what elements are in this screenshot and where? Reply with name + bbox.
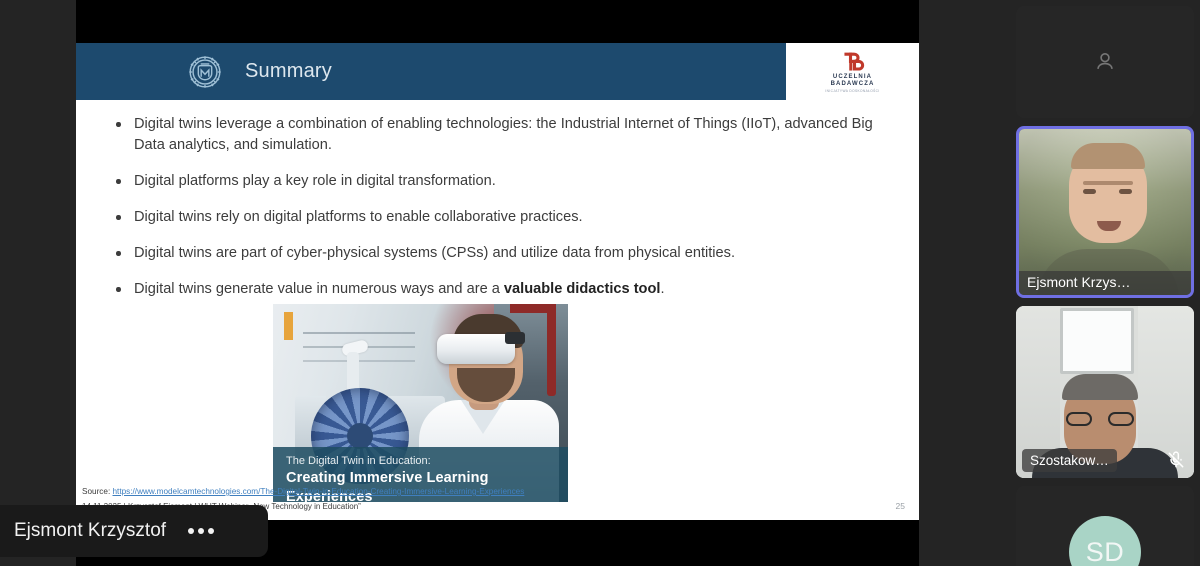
participant-hair: [1071, 143, 1145, 169]
uczelnia-badawcza-mark-icon: [838, 52, 868, 74]
microphone-muted-icon: [1166, 450, 1186, 470]
participant-tile-sd[interactable]: SD: [1016, 486, 1194, 566]
bullet-text: Digital twins are part of cyber-physical…: [134, 245, 735, 261]
list-item: Digital platforms play a key role in dig…: [98, 171, 897, 192]
list-item: Digital twins leverage a combination of …: [98, 114, 897, 156]
photo-lab-shelf: [303, 332, 415, 334]
source-link[interactable]: https://www.modelcamtechnologies.com/The…: [113, 487, 525, 496]
participant-tile-ejsmont-krzysztof[interactable]: Ejsmont Krzys…: [1016, 126, 1194, 298]
participant-name-label: Szostakow…: [1022, 449, 1117, 472]
brand-line-1: UCZELNIA: [833, 74, 872, 81]
slide-body: Digital twins leverage a combination of …: [76, 100, 919, 520]
participant-filmstrip[interactable]: Ejsmont Krzys… Szostakow…: [1010, 0, 1200, 566]
participant-tile-1[interactable]: [1016, 6, 1194, 118]
microscope-arm: [347, 352, 359, 392]
participant-hair: [1062, 374, 1138, 400]
vr-headset-icon: [437, 334, 515, 364]
gear-m-logo-icon: [183, 50, 227, 94]
bullet-text: Digital twins leverage a combination of …: [134, 116, 873, 153]
presenter-name-chip[interactable]: Ejsmont Krzysztof: [0, 505, 268, 557]
more-dot: [188, 528, 194, 534]
person-icon: [1092, 49, 1118, 75]
brand-line-3: INICJATYWA DOSKONAŁOŚCI: [825, 88, 879, 94]
bullet-text-tail: .: [660, 281, 664, 297]
participant-brow: [1083, 181, 1133, 185]
slide-header: Summary UCZELNIA BADAWCZA INICJATYWA DOS…: [76, 43, 919, 100]
bullet-text: Digital platforms play a key role in dig…: [134, 173, 496, 189]
avatar: SD: [1069, 516, 1141, 566]
bullet-text: Digital twins rely on digital platforms …: [134, 209, 583, 225]
source-label: Source:: [82, 487, 113, 496]
list-item: Digital twins rely on digital platforms …: [98, 207, 897, 228]
bullet-text: Digital twins generate value in numerous…: [134, 281, 504, 297]
slide-title: Summary: [245, 60, 332, 83]
photo-orange-tag: [284, 312, 293, 340]
more-dot: [198, 528, 204, 534]
glasses-icon: [1066, 412, 1134, 426]
participant-tile-szostakowski[interactable]: Szostakow…: [1016, 306, 1194, 478]
participant-name-label: Ejsmont Krzys…: [1019, 271, 1191, 295]
university-logo: UCZELNIA BADAWCZA INICJATYWA DOSKONAŁOŚC…: [786, 43, 919, 100]
more-options-button[interactable]: [186, 522, 216, 540]
presenter-name: Ejsmont Krzysztof: [14, 520, 166, 542]
list-item: Digital twins are part of cyber-physical…: [98, 243, 897, 264]
meeting-window: Summary UCZELNIA BADAWCZA INICJATYWA DOS…: [0, 0, 1200, 566]
participant-eye-left: [1083, 189, 1096, 194]
room-skylight: [1060, 308, 1134, 374]
vr-headset-strap: [505, 332, 525, 344]
summary-bullet-list: Digital twins leverage a combination of …: [98, 114, 897, 300]
source-line: Source: https://www.modelcamtechnologies…: [82, 484, 919, 498]
more-dot: [208, 528, 214, 534]
shared-screen-stage[interactable]: Summary UCZELNIA BADAWCZA INICJATYWA DOS…: [0, 0, 1010, 566]
participant-eye-right: [1119, 189, 1132, 194]
photo-caption-small: The Digital Twin in Education:: [286, 454, 556, 469]
bullet-text-bold: valuable didactics tool: [504, 281, 661, 297]
slide-number: 25: [896, 501, 905, 511]
brand-line-2: BADAWCZA: [831, 81, 875, 88]
slide-photo: The Digital Twin in Education: Creating …: [273, 304, 568, 502]
presentation-slide: Summary UCZELNIA BADAWCZA INICJATYWA DOS…: [76, 43, 919, 520]
list-item: Digital twins generate value in numerous…: [98, 279, 897, 300]
